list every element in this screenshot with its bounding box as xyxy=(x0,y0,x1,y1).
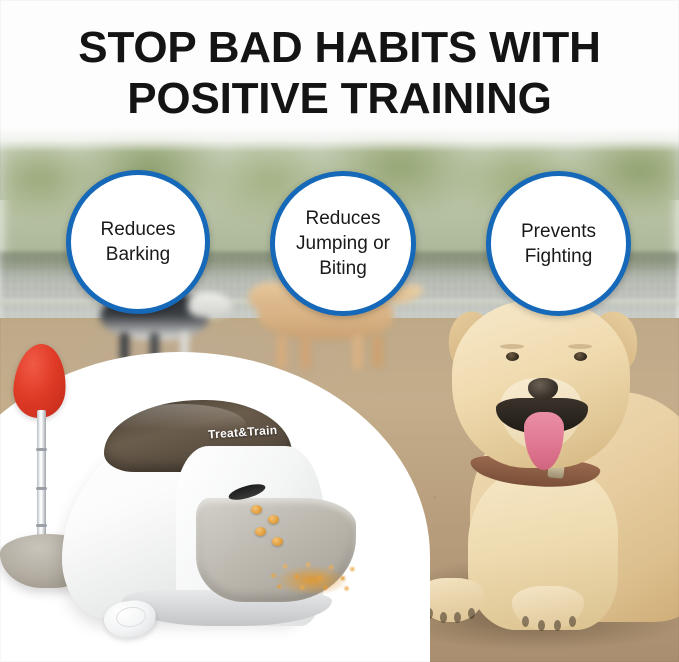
benefit-badge-label: Reduces Jumping or Biting xyxy=(288,206,398,281)
labrador-toe xyxy=(440,612,447,623)
golden-retriever-leg xyxy=(276,334,287,370)
labrador-brow-left xyxy=(500,344,524,349)
labrador-toe xyxy=(538,620,545,631)
labrador-eye-left xyxy=(506,352,519,361)
kibble-piece xyxy=(251,505,262,514)
page-title: STOP BAD HABITS WITH POSITIVE TRAINING xyxy=(0,22,679,124)
golden-retriever-leg xyxy=(372,334,383,368)
border-collie-head xyxy=(188,292,232,318)
labrador-toe xyxy=(468,608,475,619)
kibble-piece xyxy=(255,527,266,536)
benefit-line: Reduces xyxy=(101,217,176,242)
labrador-toe xyxy=(554,620,561,631)
benefit-line: Barking xyxy=(101,242,176,267)
benefit-line: Biting xyxy=(296,256,390,281)
headline-line-2: POSITIVE TRAINING xyxy=(0,73,679,124)
kibble-pile xyxy=(264,548,360,594)
benefit-badge-reduces-jumping-or-biting: Reduces Jumping or Biting xyxy=(270,171,416,316)
kibble-piece xyxy=(268,515,279,524)
benefit-line: Jumping or xyxy=(296,231,390,256)
benefit-badge-prevents-fighting: Prevents Fighting xyxy=(486,171,631,316)
benefit-badge-label: Prevents Fighting xyxy=(513,219,604,269)
labrador-brow-right xyxy=(568,344,592,349)
labrador-toe xyxy=(522,616,529,627)
golden-retriever-leg xyxy=(352,334,363,370)
golden-retriever-leg xyxy=(300,334,311,370)
target-stick-joint xyxy=(36,448,47,451)
headline-line-1: STOP BAD HABITS WITH xyxy=(0,22,679,73)
labrador-toe xyxy=(569,616,576,627)
benefit-line: Fighting xyxy=(521,244,596,269)
labrador-toe xyxy=(454,612,461,623)
labrador-eye-right xyxy=(574,352,587,361)
benefit-line: Prevents xyxy=(521,219,596,244)
target-stick-joint xyxy=(36,524,47,527)
kibble-piece xyxy=(272,537,283,546)
promotional-poster: Treat&Train STOP BAD HABITS WITH POSITIV… xyxy=(0,0,679,662)
benefit-badge-reduces-barking: Reduces Barking xyxy=(66,170,210,314)
target-stick-joint xyxy=(36,487,47,490)
benefit-line: Reduces xyxy=(296,206,390,231)
benefit-badge-label: Reduces Barking xyxy=(93,217,184,267)
